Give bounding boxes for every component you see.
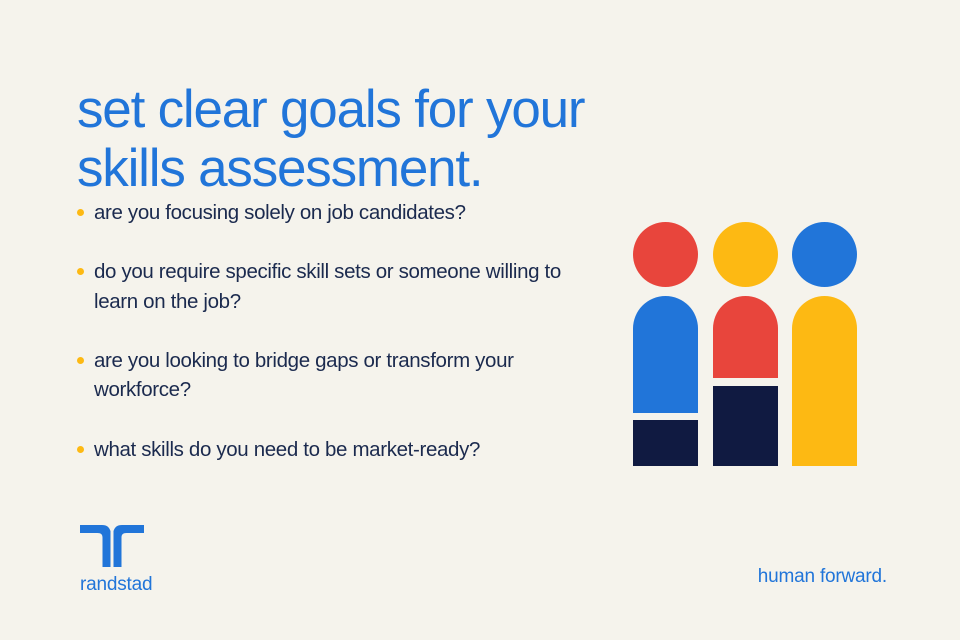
page-title: set clear goals for your skills assessme… bbox=[77, 80, 697, 200]
figure-body-shape bbox=[713, 296, 778, 378]
bullet-dot-icon bbox=[77, 268, 84, 275]
figure-base-shape bbox=[713, 386, 778, 466]
three-people-illustration bbox=[633, 222, 857, 466]
bullet-dot-icon bbox=[77, 357, 84, 364]
brand-wordmark: randstad bbox=[80, 574, 152, 596]
figure-middle bbox=[713, 222, 778, 466]
bullet-dot-icon bbox=[77, 446, 84, 453]
list-item: are you focusing solely on job candidate… bbox=[77, 198, 567, 227]
figure-head-icon bbox=[713, 222, 778, 287]
question-list: are you focusing solely on job candidate… bbox=[77, 198, 567, 494]
figure-body-shape bbox=[633, 296, 698, 413]
randstad-logo-icon bbox=[80, 525, 144, 567]
figure-head-icon bbox=[633, 222, 698, 287]
bullet-dot-icon bbox=[77, 209, 84, 216]
list-item: are you looking to bridge gaps or transf… bbox=[77, 346, 567, 405]
list-item-label: do you require specific skill sets or so… bbox=[94, 257, 567, 316]
list-item-label: what skills do you need to be market-rea… bbox=[94, 435, 480, 464]
figure-body-shape bbox=[792, 296, 857, 466]
slide-canvas: set clear goals for your skills assessme… bbox=[0, 0, 960, 640]
figure-base-shape bbox=[633, 420, 698, 466]
list-item-label: are you looking to bridge gaps or transf… bbox=[94, 346, 567, 405]
list-item-label: are you focusing solely on job candidate… bbox=[94, 198, 466, 227]
brand-tagline: human forward. bbox=[758, 566, 887, 588]
list-item: what skills do you need to be market-rea… bbox=[77, 435, 567, 464]
figure-head-icon bbox=[792, 222, 857, 287]
list-item: do you require specific skill sets or so… bbox=[77, 257, 567, 316]
brand-logo: randstad bbox=[80, 525, 152, 596]
figure-left bbox=[633, 222, 698, 466]
figure-right bbox=[792, 222, 857, 466]
